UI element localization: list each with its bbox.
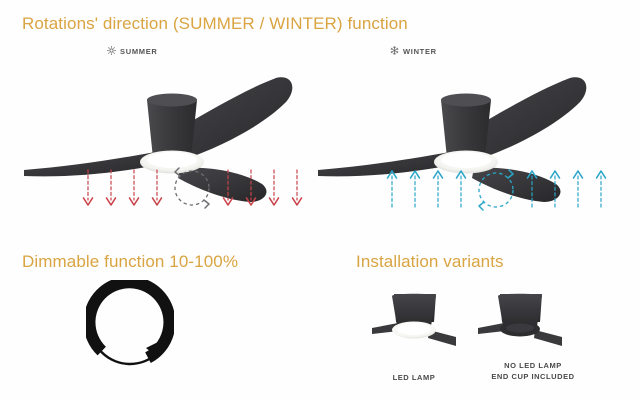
snowflake-icon (390, 46, 399, 57)
sun-icon (107, 46, 116, 57)
winter-airflow-arrows (384, 166, 609, 214)
dimmer-dial-icon (86, 280, 174, 368)
variant-no-led-lamp-caption: NO LED LAMP END CUP INCLUDED (458, 360, 608, 382)
product-feature-infographic: Rotations' direction (SUMMER / WINTER) f… (0, 0, 640, 400)
variant-led-lamp-caption: LED LAMP (360, 372, 468, 383)
winter-mode-text: WINTER (403, 47, 437, 56)
summer-airflow-arrows (80, 166, 305, 214)
rotations-section-heading: Rotations' direction (SUMMER / WINTER) f… (22, 14, 408, 34)
variant-no-led-lamp-illustration (478, 292, 562, 358)
summer-mode-label: SUMMER (107, 46, 158, 57)
variant-led-lamp-illustration (372, 292, 456, 358)
winter-mode-label: WINTER (390, 46, 437, 57)
summer-rotation-arrow (175, 168, 209, 208)
dimmable-section-heading: Dimmable function 10-100% (22, 252, 238, 272)
winter-rotation-arrow (479, 170, 513, 210)
installation-section-heading: Installation variants (356, 252, 504, 272)
summer-mode-text: SUMMER (120, 47, 158, 56)
